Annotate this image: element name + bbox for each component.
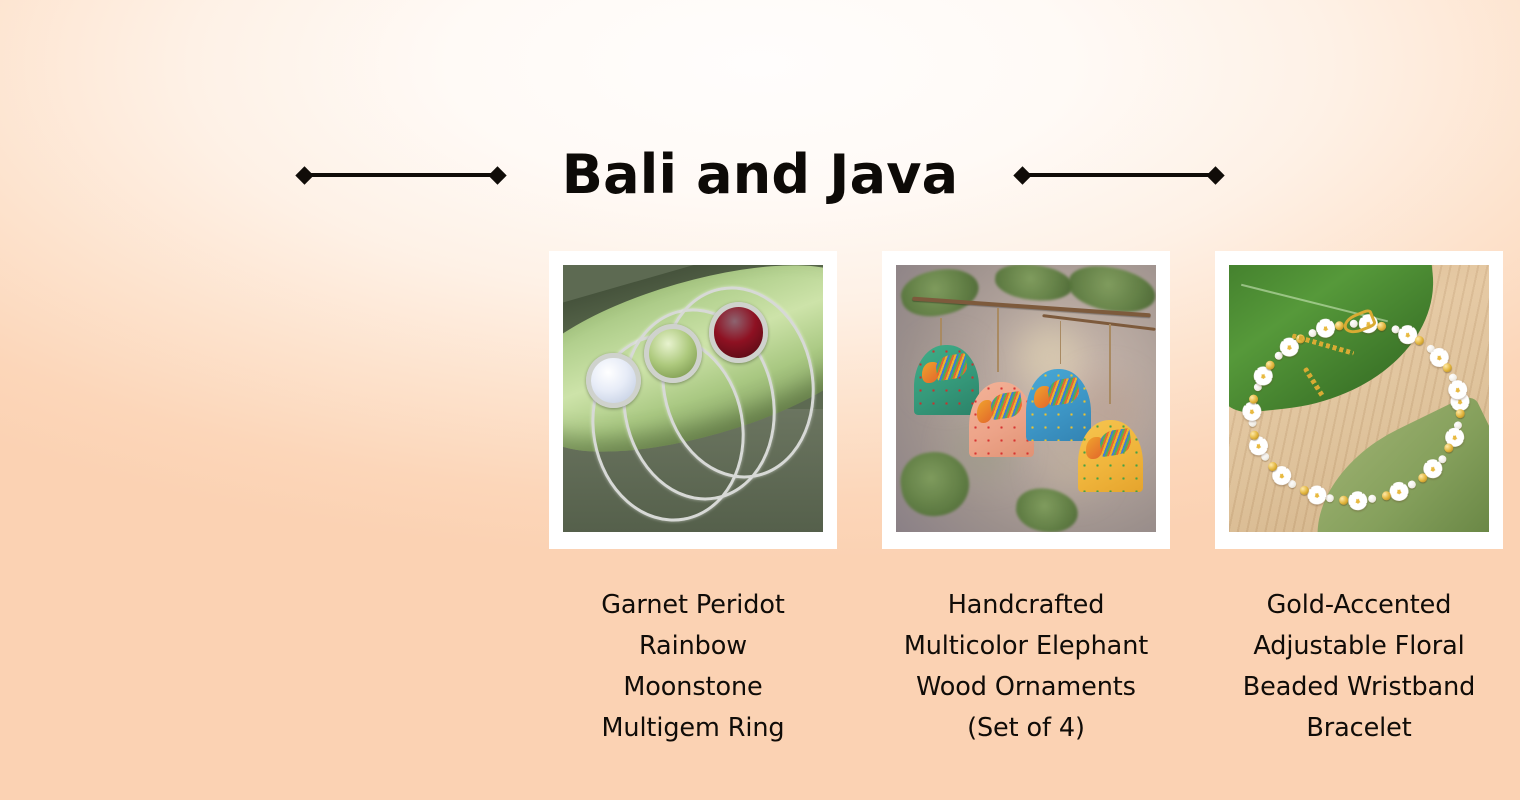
- poster-header: Bali and Java: [0, 132, 1520, 218]
- page-title: Bali and Java: [562, 148, 959, 202]
- rule-bar: [307, 173, 495, 177]
- photo-frame: [549, 251, 837, 549]
- product-caption: Garnet Peridot Rainbow Moonstone Multige…: [543, 585, 843, 749]
- silver-stacking-rings-photo: [563, 265, 823, 532]
- decorative-rule-right: [1016, 162, 1222, 188]
- photo-frame: [1215, 251, 1503, 549]
- gold-bead: [1299, 485, 1309, 495]
- caption-line: Moonstone: [543, 667, 843, 708]
- caption-line: Multigem Ring: [543, 708, 843, 749]
- decorative-rule-left: [298, 162, 504, 188]
- caption-line: Multicolor Elephant: [876, 626, 1176, 667]
- product-card-bracelet[interactable]: Gold-Accented Adjustable Floral Beaded W…: [1215, 251, 1503, 749]
- product-row: Garnet Peridot Rainbow Moonstone Multige…: [549, 251, 1503, 749]
- caption-line: Wood Ornaments: [876, 667, 1176, 708]
- caption-line: Garnet Peridot: [543, 585, 843, 626]
- rule-bar: [1025, 173, 1213, 177]
- hanging-cord: [997, 308, 999, 372]
- garnet-gem: [709, 302, 768, 363]
- pine-foliage: [993, 265, 1074, 304]
- caption-line: Rainbow: [543, 626, 843, 667]
- caption-line: Beaded Wristband: [1209, 667, 1509, 708]
- caption-line: Handcrafted: [876, 585, 1176, 626]
- peridot-gem: [644, 324, 702, 383]
- caption-line: Gold-Accented: [1209, 585, 1509, 626]
- elephant-ornament-blue: [1026, 369, 1091, 441]
- elephant-ornament-pink: [969, 382, 1034, 457]
- product-card-ring[interactable]: Garnet Peridot Rainbow Moonstone Multige…: [549, 251, 837, 749]
- poster-canvas: Bali and Java: [0, 0, 1520, 800]
- gold-bead: [1249, 394, 1259, 404]
- product-caption: Handcrafted Multicolor Elephant Wood Orn…: [876, 585, 1176, 749]
- elephant-ornaments-photo: [896, 265, 1156, 532]
- hanging-cord: [1060, 321, 1062, 364]
- diamond-icon: [488, 166, 506, 184]
- gold-bead: [1455, 408, 1465, 418]
- caption-line: Bracelet: [1209, 708, 1509, 749]
- product-caption: Gold-Accented Adjustable Floral Beaded W…: [1209, 585, 1509, 749]
- product-card-ornaments[interactable]: Handcrafted Multicolor Elephant Wood Orn…: [882, 251, 1170, 749]
- gold-bead: [1265, 360, 1275, 370]
- photo-frame: [882, 251, 1170, 549]
- caption-line: (Set of 4): [876, 708, 1176, 749]
- beaded-bracelet-photo: [1229, 265, 1489, 532]
- hanging-cord: [1109, 324, 1111, 404]
- caption-line: Adjustable Floral: [1209, 626, 1509, 667]
- pine-foliage: [897, 265, 983, 323]
- diamond-icon: [1207, 166, 1225, 184]
- moonstone-gem: [586, 353, 640, 408]
